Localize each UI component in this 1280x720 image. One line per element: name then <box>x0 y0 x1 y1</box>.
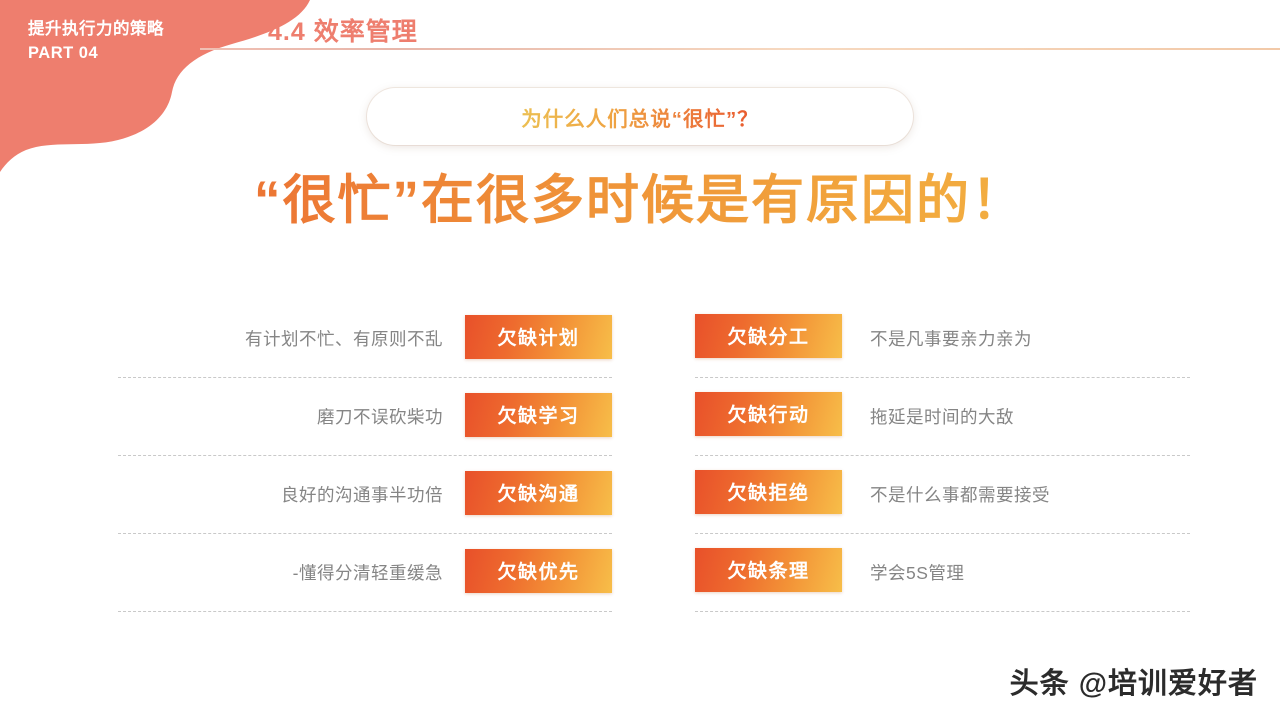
left-reason-column: 有计划不忙、有原则不乱 欠缺计划 磨刀不误砍柴功 欠缺学习 良好的沟通事半功倍 … <box>118 300 612 612</box>
reason-description: 学会5S管理 <box>870 560 964 585</box>
part-label-line1: 提升执行力的策略 <box>28 18 258 42</box>
part-label: 提升执行力的策略 PART 04 <box>28 18 258 66</box>
list-item: 欠缺拒绝 不是什么事都需要接受 <box>695 456 1190 534</box>
list-item: 欠缺分工 不是凡事要亲力亲为 <box>695 300 1190 378</box>
header-divider-rule <box>200 48 1280 50</box>
list-item: 有计划不忙、有原则不乱 欠缺计划 <box>118 300 612 378</box>
subtitle-pill-text: 为什么人们总说“很忙”？ <box>521 102 759 132</box>
part-label-line2: PART 04 <box>28 42 258 66</box>
reason-badge: 欠缺优先 <box>465 549 612 593</box>
reason-description: 良好的沟通事半功倍 <box>281 482 443 507</box>
page-headline: “很忙”在很多时候是有原因的！ <box>0 158 1280 234</box>
subtitle-pill: 为什么人们总说“很忙”？ <box>367 88 913 145</box>
reason-badge: 欠缺条理 <box>695 548 842 592</box>
reason-badge: 欠缺拒绝 <box>695 470 842 514</box>
list-item: 磨刀不误砍柴功 欠缺学习 <box>118 378 612 456</box>
reason-badge: 欠缺沟通 <box>465 471 612 515</box>
reason-description: 不是凡事要亲力亲为 <box>870 326 1032 351</box>
reason-badge: 欠缺学习 <box>465 393 612 437</box>
list-item: 欠缺行动 拖延是时间的大敌 <box>695 378 1190 456</box>
watermark: 头条 @培训爱好者 <box>1010 660 1258 702</box>
reason-badge: 欠缺行动 <box>695 392 842 436</box>
list-item: -懂得分清轻重缓急 欠缺优先 <box>118 534 612 612</box>
list-item: 欠缺条理 学会5S管理 <box>695 534 1190 612</box>
section-title: 4.4 效率管理 <box>268 12 418 48</box>
list-item: 良好的沟通事半功倍 欠缺沟通 <box>118 456 612 534</box>
right-reason-column: 欠缺分工 不是凡事要亲力亲为 欠缺行动 拖延是时间的大敌 欠缺拒绝 不是什么事都… <box>695 300 1190 612</box>
reason-description: 拖延是时间的大敌 <box>870 404 1014 429</box>
reason-badge: 欠缺计划 <box>465 315 612 359</box>
reason-description: -懂得分清轻重缓急 <box>293 560 443 585</box>
reason-description: 有计划不忙、有原则不乱 <box>245 326 443 351</box>
reason-description: 不是什么事都需要接受 <box>870 482 1050 507</box>
reason-badge: 欠缺分工 <box>695 314 842 358</box>
reason-description: 磨刀不误砍柴功 <box>317 404 443 429</box>
